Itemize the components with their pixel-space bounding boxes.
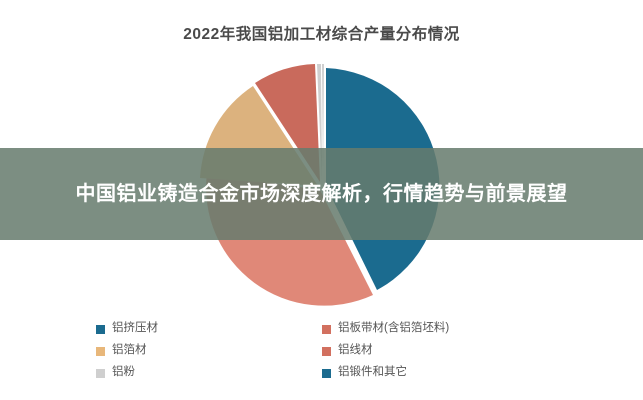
legend-item-4: 铝粉 [96,362,322,384]
chart-legend: 铝挤压材 铝板带材(含铝箔坯料) 铝箔材 铝线材 铝粉 铝锻件和其它 [96,318,548,386]
legend-item-3: 铝线材 [322,340,548,362]
legend-swatch-icon-2 [96,347,105,356]
legend-swatch-icon-0 [96,325,105,334]
headline-text: 中国铝业铸造合金市场深度解析，行情趋势与前景展望 [42,180,602,209]
legend-item-0: 铝挤压材 [96,318,322,340]
legend-swatch-icon-5 [322,369,331,378]
legend-label-5: 铝锻件和其它 [338,367,407,379]
legend-label-4: 铝粉 [112,367,135,379]
legend-label-0: 铝挤压材 [112,323,158,335]
legend-item-2: 铝箔材 [96,340,322,362]
legend-label-3: 铝线材 [338,345,373,357]
legend-item-1: 铝板带材(含铝箔坯料) [322,318,548,340]
legend-swatch-icon-3 [322,347,331,356]
legend-swatch-icon-4 [96,369,105,378]
legend-label-1: 铝板带材(含铝箔坯料) [338,323,449,335]
legend-item-5: 铝锻件和其它 [322,362,548,384]
legend-swatch-icon-1 [322,325,331,334]
headline-overlay-band: 中国铝业铸造合金市场深度解析，行情趋势与前景展望 [0,148,643,240]
legend-label-2: 铝箔材 [112,345,147,357]
chart-title: 2022年我国铝加工材综合产量分布情况 [0,22,643,44]
chart-page: 2022年我国铝加工材综合产量分布情况 铝挤压材 铝板带材(含铝箔坯料) [0,0,643,400]
